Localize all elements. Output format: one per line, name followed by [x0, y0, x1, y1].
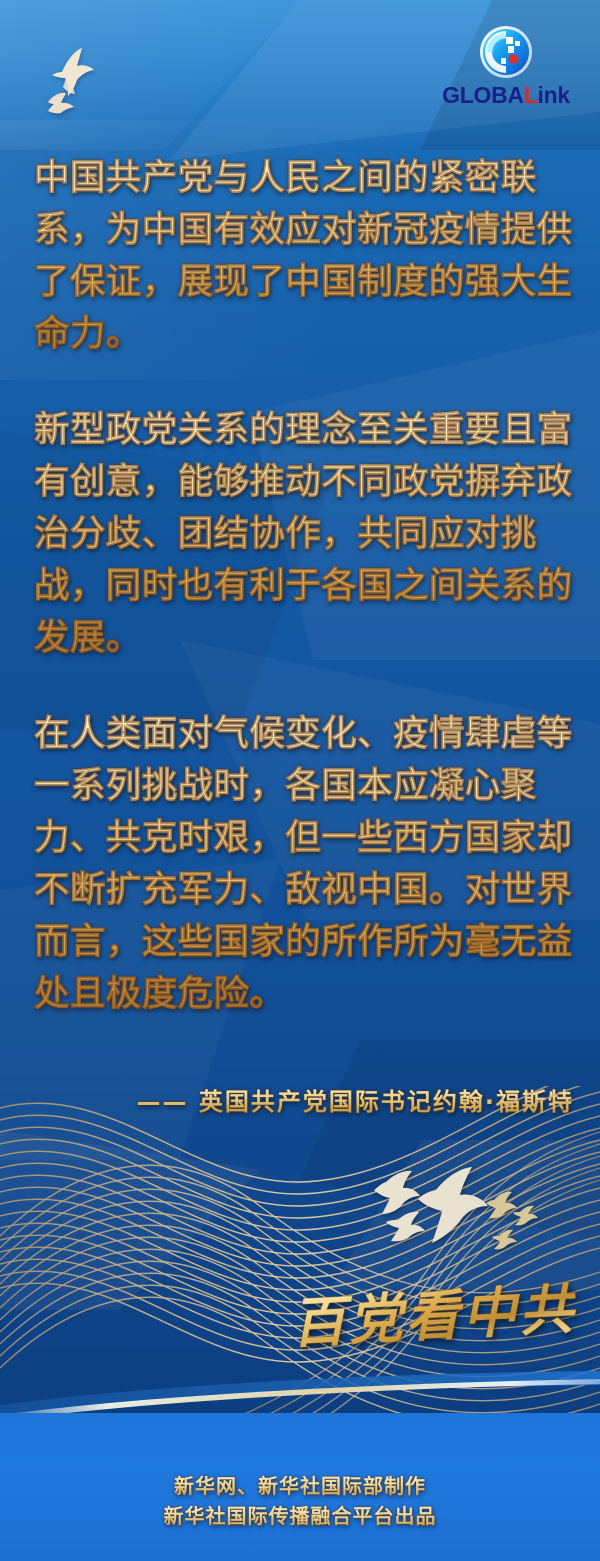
- dove-flock-icon: [360, 1164, 550, 1270]
- poster: GLOBALink 中国共产党与人民之间的紧密联系，为中国有效应对新冠疫情提供了…: [0, 0, 600, 1561]
- quote-body: 中国共产党与人民之间的紧密联系，为中国有效应对新冠疫情提供了保证，展现了中国制度…: [34, 152, 574, 1020]
- globalink-wordmark: GLOBALink: [440, 84, 572, 107]
- footer-line-2: 新华社国际传播融合平台出品: [0, 1501, 600, 1531]
- footer-line-1: 新华网、新华社国际部制作: [0, 1471, 600, 1501]
- brand-name-accent: L: [524, 82, 538, 108]
- brand-name-tail: ink: [537, 82, 569, 108]
- quote-paragraph-3: 在人类面对气候变化、疫情肆虐等一系列挑战时，各国本应凝心聚力、共克时艰，但一些西…: [34, 708, 574, 1020]
- quote-paragraph-2: 新型政党关系的理念至关重要且富有创意，能够推动不同政党摒弃政治分歧、团结协作，共…: [34, 404, 574, 664]
- quote-paragraph-1: 中国共产党与人民之间的紧密联系，为中国有效应对新冠疫情提供了保证，展现了中国制度…: [34, 152, 574, 360]
- globalink-brand[interactable]: GLOBALink: [440, 24, 572, 107]
- dove-pair-icon: [44, 42, 114, 122]
- globalink-globe-icon: [478, 24, 534, 80]
- brand-name-main: GLOBA: [442, 82, 524, 108]
- footer-band: 新华网、新华社国际部制作 新华社国际传播融合平台出品: [0, 1413, 600, 1561]
- calligraphy-title: 百党看中共: [289, 1265, 578, 1359]
